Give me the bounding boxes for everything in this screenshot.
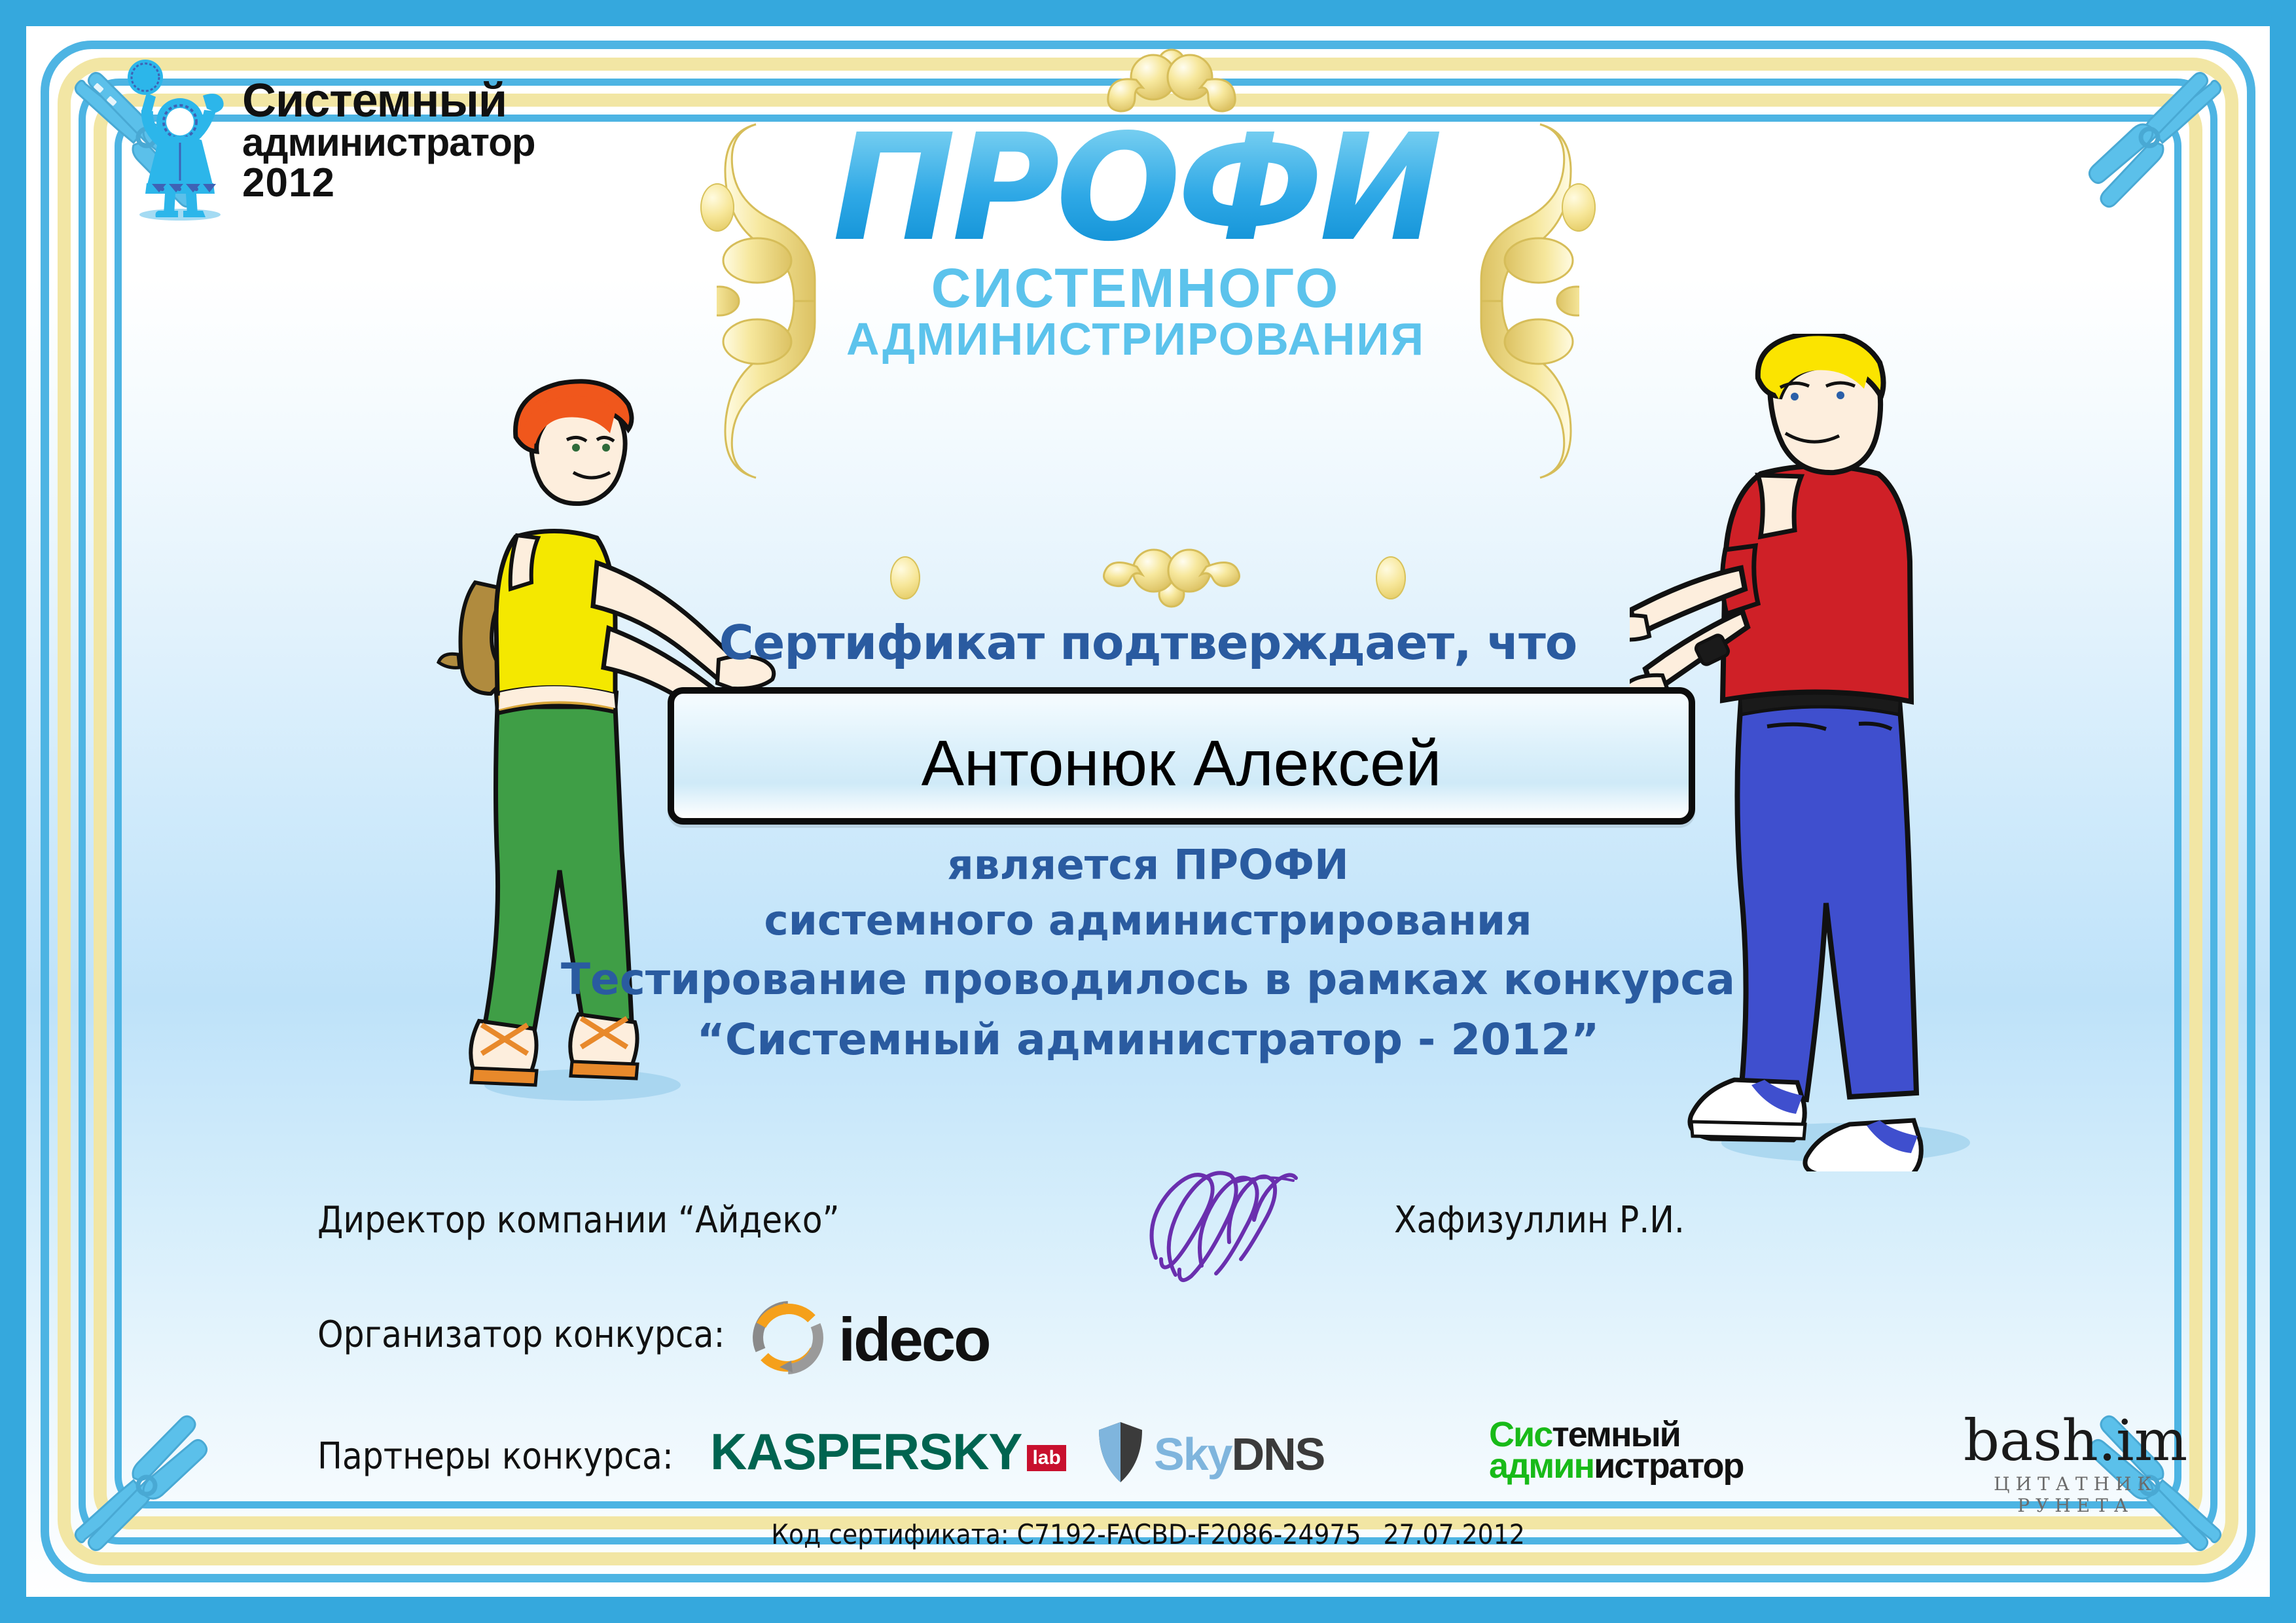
skydns-sky-text: Sky: [1154, 1429, 1232, 1480]
brand-line-1: Системный: [242, 79, 524, 123]
ideco-wordmark: ideco: [838, 1304, 990, 1375]
certificate-page: Системный администратор 2012: [0, 0, 2296, 1623]
brand-line-3: 2012: [242, 162, 524, 204]
kaspersky-lab-badge: lab: [1027, 1445, 1066, 1471]
title-profi: ПРОФИ: [700, 121, 1571, 257]
ideco-ring-icon: [749, 1299, 827, 1380]
is-profi-text: является ПРОФИ: [26, 841, 2270, 889]
partners-row: Партнеры конкурса: KASPERSKY lab SkyDNS: [317, 1410, 2117, 1508]
issue-date: 27.07.2012: [1383, 1518, 1524, 1550]
skydns-dns-text: DNS: [1232, 1429, 1325, 1480]
partners-label: Партнеры конкурса:: [317, 1435, 673, 1478]
sysadmin-green-2: админ: [1489, 1446, 1594, 1486]
contest-name-text: “Системный администратор - 2012”: [26, 1014, 2270, 1065]
brand-line-2: администратор: [242, 123, 524, 162]
organizer-label: Организатор конкурса:: [317, 1313, 725, 1356]
skydns-logo: SkyDNS: [1096, 1421, 1324, 1487]
director-row: Директор компании “Айдеко” Хафизуллин Р.…: [317, 1192, 1430, 1264]
sysadmin-black-2: истратор: [1594, 1446, 1743, 1486]
director-label: Директор компании “Айдеко”: [317, 1199, 840, 1241]
director-name: Хафизуллин Р.И.: [1394, 1199, 1685, 1241]
gold-ornament-icon: [1083, 524, 1260, 615]
certificate-title-block: ПРОФИ СИСТЕМНОГО АДМИНИСТРИРОВАНИЯ: [700, 72, 1571, 364]
title-sub2: АДМИНИСТРИРОВАНИЯ: [700, 315, 1571, 364]
title-sub1: СИСТЕМНОГО: [700, 260, 1571, 315]
recipient-name-plaque: Антонюк Алексей: [668, 687, 1695, 825]
testing-text: Тестирование проводилось в рамках конкур…: [26, 954, 2270, 1005]
sysadmin-magazine-logo: Системный администратор: [1489, 1419, 1743, 1482]
handwritten-signature-icon: [1139, 1160, 1329, 1291]
certificate-code-row: Код сертификата: C7192-FACBD-F2086-24975…: [26, 1518, 2270, 1550]
ideco-logo: ideco: [749, 1299, 990, 1380]
crimping-pliers-icon: [2060, 65, 2231, 236]
kaspersky-logo: KASPERSKY lab: [710, 1422, 1066, 1482]
confirms-text: Сертификат подтверждает, что: [26, 615, 2270, 670]
of-sysadmin-text: системного администрирования: [26, 897, 2270, 944]
eskimo-mascot-icon: [118, 59, 242, 223]
kaspersky-wordmark: KASPERSKY: [710, 1422, 1022, 1482]
bashim-tagline: ЦИТАТНИК РУНЕТА: [1964, 1473, 2187, 1516]
gold-bead-icon: [890, 556, 920, 599]
sysadmin-2012-logo: Системный администратор 2012: [118, 59, 524, 223]
recipient-name: Антонюк Алексей: [922, 726, 1442, 800]
code-value: C7192-FACBD-F2086-24975: [1017, 1518, 1361, 1550]
certificate-canvas: Системный администратор 2012: [26, 26, 2270, 1597]
organizer-row: Организатор конкурса:: [317, 1299, 1168, 1384]
gold-bead-icon: [1376, 556, 1406, 599]
skydns-shield-icon: [1096, 1421, 1145, 1487]
code-label: Код сертификата:: [771, 1518, 1009, 1550]
bashim-wordmark: bash.im: [1964, 1413, 2187, 1469]
bashim-logo: bash.im ЦИТАТНИК РУНЕТА: [1964, 1413, 2187, 1516]
